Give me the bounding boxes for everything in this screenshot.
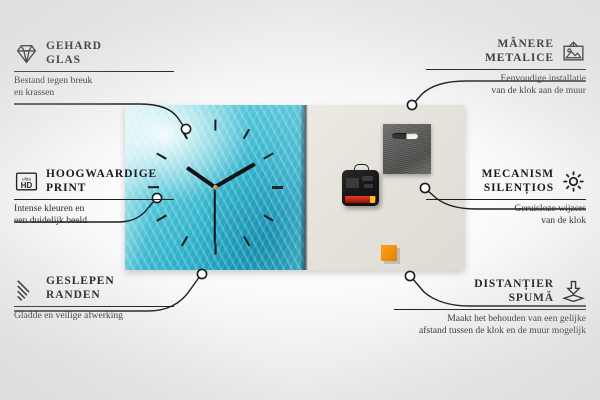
feature-header: GEHARD GLAS <box>14 40 174 67</box>
minute-hand <box>214 163 256 190</box>
feature-description: Intense kleuren en een duidelijk beeld <box>14 203 189 226</box>
gear-icon <box>561 169 586 194</box>
clock-tick <box>180 128 187 139</box>
feature-header: GESLEPEN RANDEN <box>14 275 189 302</box>
clock-tick <box>272 186 283 188</box>
diamond-icon <box>14 41 39 66</box>
feature-title: MECANISM SILENȚIOS <box>482 168 554 195</box>
feature-divider <box>14 306 174 307</box>
battery-positive-terminal <box>370 196 375 203</box>
quartz-mechanism <box>342 170 379 206</box>
clock-tick <box>263 153 274 160</box>
infographic-canvas: GEHARD GLAS Bestand tegen breuk en krass… <box>0 0 600 400</box>
clock-tick <box>242 128 249 139</box>
clock-tick <box>263 215 274 222</box>
feature-header: MÂNERE METALICE <box>426 38 586 65</box>
mechanism-body-detail <box>346 178 359 188</box>
spacer-arrow-icon <box>561 279 586 304</box>
feature-gehard-glas: GEHARD GLAS Bestand tegen breuk en krass… <box>14 40 174 98</box>
feature-title: HOOGWAARDIGE PRINT <box>46 168 157 195</box>
beveled-edges-icon <box>14 276 39 301</box>
clock-tick <box>180 236 187 247</box>
feature-title: MÂNERE METALICE <box>485 38 554 65</box>
feature-divider <box>426 199 586 200</box>
panel-seam <box>305 105 308 270</box>
mechanism-body-detail <box>364 184 373 188</box>
hands-center-cap <box>213 185 218 190</box>
metal-hanger-plate <box>383 124 431 174</box>
feature-description: Gladde en veilige afwerking <box>14 310 189 322</box>
clock-tick <box>156 153 167 160</box>
clock-tick <box>242 236 249 247</box>
feature-divider <box>14 199 174 200</box>
aa-battery <box>345 196 376 203</box>
foam-spacer <box>381 245 397 261</box>
keyhole-slot <box>392 133 418 139</box>
svg-text:HD: HD <box>21 181 33 190</box>
feature-header: DISTANȚIER SPUMĂ <box>394 278 586 305</box>
ultra-hd-icon: ultra HD <box>14 169 39 194</box>
clock-tick <box>214 244 216 255</box>
mechanism-body-detail <box>362 176 373 181</box>
feature-description: Bestand tegen breuk en krassen <box>14 75 174 98</box>
second-hand <box>214 188 216 244</box>
feature-title: GEHARD GLAS <box>46 40 102 67</box>
callout-dot-geslepen-randen <box>197 269 206 278</box>
feature-description: Geruisloze wijzers van de klok <box>426 203 586 226</box>
mechanism-hook <box>354 164 369 173</box>
feature-hoogwaardige-print: ultra HD HOOGWAARDIGE PRINT Intense kleu… <box>14 168 189 226</box>
feature-header: ultra HD HOOGWAARDIGE PRINT <box>14 168 189 195</box>
hour-hand <box>186 166 216 189</box>
feature-manere-metalice: MÂNERE METALICE Eenvoudige installatie v… <box>426 38 586 96</box>
feature-distantier-spuma: DISTANȚIER SPUMĂ Maakt het behouden van … <box>394 278 586 336</box>
feature-divider <box>426 69 586 70</box>
feature-divider <box>394 309 586 310</box>
feature-title: DISTANȚIER SPUMĂ <box>474 278 554 305</box>
feature-description: Eenvoudige installatie van de klok aan d… <box>426 73 586 96</box>
clock-tick <box>214 120 216 131</box>
feature-geslepen-randen: GESLEPEN RANDEN Gladde en veilige afwerk… <box>14 275 189 322</box>
feature-header: MECANISM SILENȚIOS <box>426 168 586 195</box>
feature-divider <box>14 71 174 72</box>
feature-title: GESLEPEN RANDEN <box>46 275 115 302</box>
feature-mecanism-silentios: MECANISM SILENȚIOS Geruisloze wijzers va… <box>426 168 586 226</box>
wall-mount-picture-icon <box>561 39 586 64</box>
feature-description: Maakt het behouden van een gelijke afsta… <box>394 313 586 336</box>
